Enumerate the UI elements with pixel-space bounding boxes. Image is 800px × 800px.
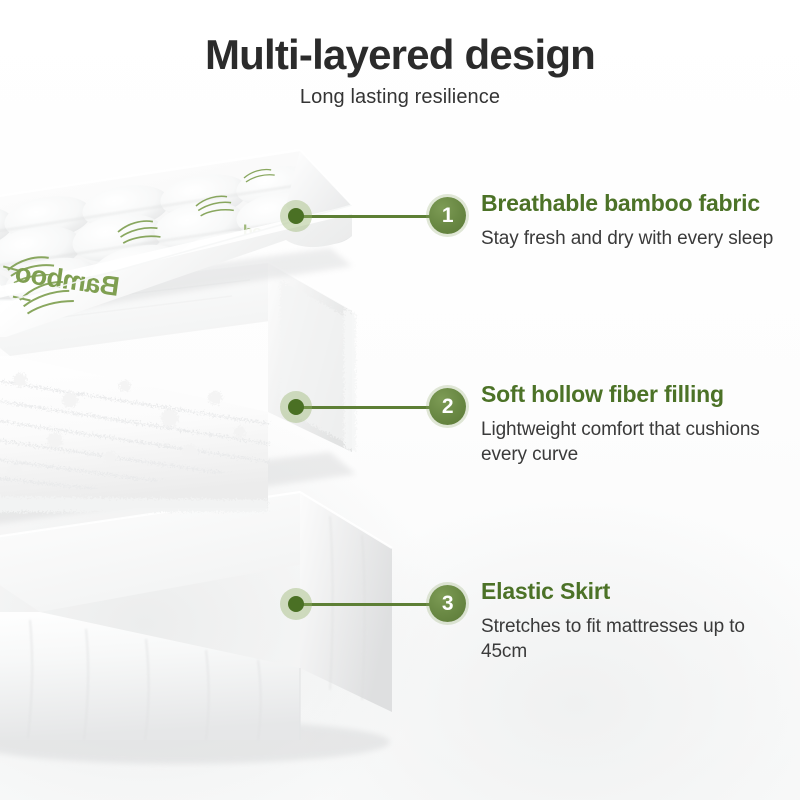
callout-3-leader xyxy=(280,588,450,620)
callout-3-target-dot xyxy=(280,588,312,620)
callout-2-description: Lightweight comfort that cushions every … xyxy=(481,417,796,467)
dot-core-icon xyxy=(288,596,304,612)
callout-2-heading: Soft hollow fiber filling xyxy=(481,381,796,408)
callout-1-number-badge: 1 xyxy=(429,197,466,234)
callout-1-text: Breathable bamboo fabric Stay fresh and … xyxy=(481,190,796,251)
callout-3-description: Stretches to fit mattresses up to 45cm xyxy=(481,614,796,664)
elastic-skirt-bottom-layer xyxy=(0,492,392,764)
callout-1-leader xyxy=(280,200,450,232)
callout-1-description: Stay fresh and dry with every sleep xyxy=(481,226,796,251)
callout-2-number: 2 xyxy=(442,396,453,417)
callout-2-text: Soft hollow fiber filling Lightweight co… xyxy=(481,381,796,467)
callout-2-number-badge: 2 xyxy=(429,388,466,425)
leader-line-icon xyxy=(296,406,436,409)
dot-core-icon xyxy=(288,208,304,224)
header: Multi-layered design Long lasting resili… xyxy=(0,0,800,109)
callout-2-target-dot xyxy=(280,391,312,423)
callout-1-heading: Breathable bamboo fabric xyxy=(481,190,796,217)
callout-1-number: 1 xyxy=(442,205,453,226)
callout-2-leader xyxy=(280,391,450,423)
page-subtitle: Long lasting resilience xyxy=(0,86,800,109)
callout-3-heading: Elastic Skirt xyxy=(481,578,796,605)
product-infographic: Multi-layered design Long lasting resili… xyxy=(0,0,800,800)
dot-core-icon xyxy=(288,399,304,415)
callout-3-text: Elastic Skirt Stretches to fit mattresse… xyxy=(481,578,796,664)
callout-1-target-dot xyxy=(280,200,312,232)
page-title: Multi-layered design xyxy=(0,32,800,77)
callout-3-number-badge: 3 xyxy=(429,585,466,622)
callout-3-number: 3 xyxy=(442,593,453,614)
leader-line-icon xyxy=(296,215,436,218)
leader-line-icon xyxy=(296,603,436,606)
